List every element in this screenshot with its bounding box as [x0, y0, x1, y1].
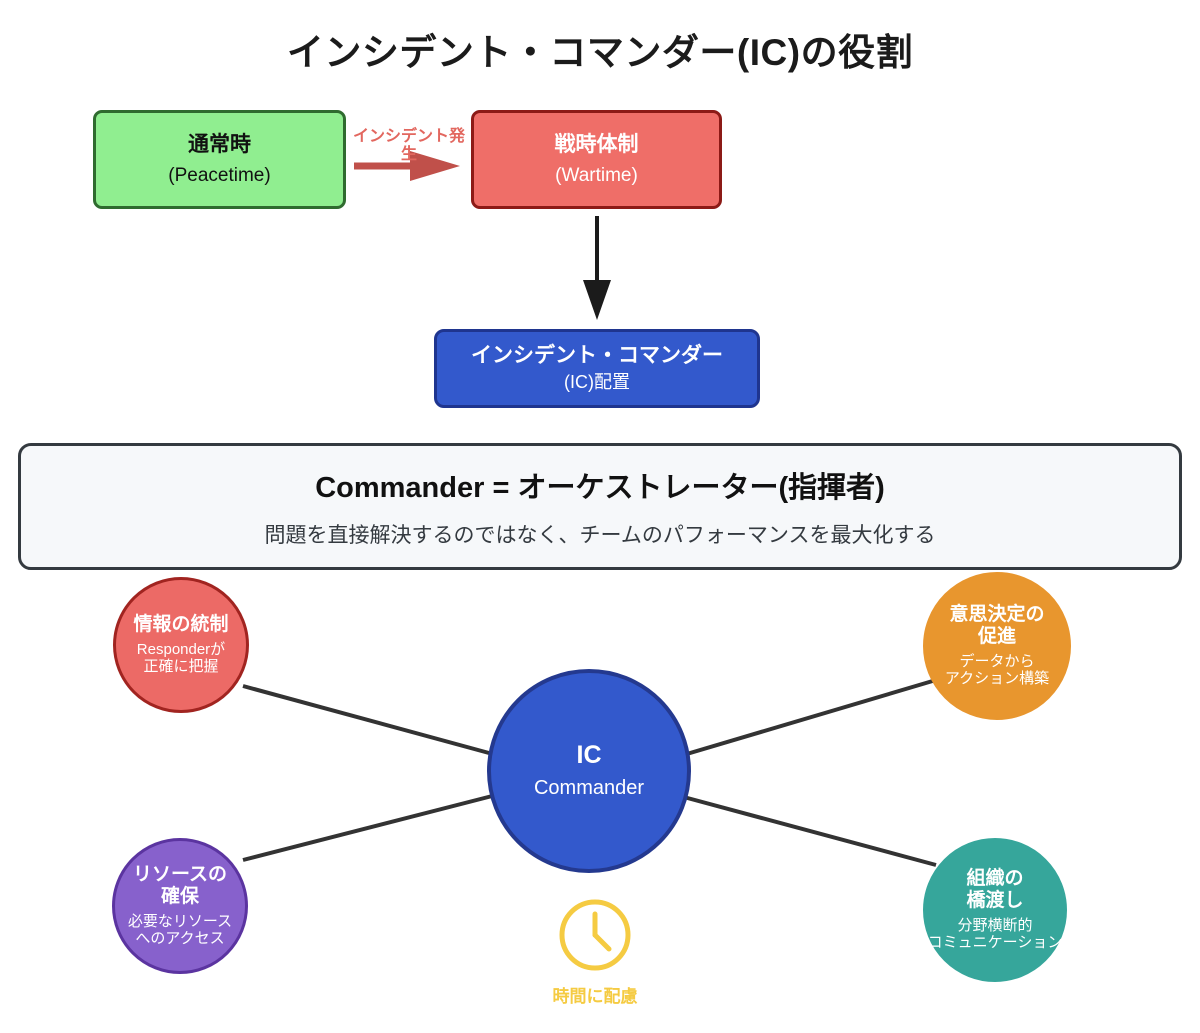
decision-title-1: 意思決定の — [949, 604, 1044, 626]
bridge-title-1: 組織の — [966, 868, 1023, 890]
link-decision-to-center — [680, 680, 936, 756]
link-resource-to-center — [243, 794, 500, 860]
resource-title-1: リソースの — [133, 864, 227, 886]
ic-box-title: インシデント・コマンダー — [471, 342, 723, 370]
info-subtitle-2: 正確に把握 — [143, 658, 218, 676]
peacetime-title: 通常時 — [188, 131, 251, 159]
bridge-subtitle-1: 分野横断的 — [957, 917, 1032, 935]
link-info-to-center — [243, 686, 500, 756]
bridge-title-2: 橋渡し — [966, 890, 1023, 912]
down-arrow-icon — [577, 214, 617, 324]
page-title: インシデント・コマンダー(IC)の役割 — [0, 22, 1200, 76]
ic-deployment-box: インシデント・コマンダー (IC)配置 — [434, 329, 760, 408]
banner-subtitle: 問題を直接解決するのではなく、チームのパフォーマンスを最大化する — [265, 519, 936, 549]
wartime-title: 戦時体制 — [555, 131, 639, 159]
wartime-subtitle: (Wartime) — [555, 163, 638, 188]
info-title: 情報の統制 — [133, 614, 228, 636]
clock-label: 時間に配慮 — [553, 982, 638, 1007]
bridge-subtitle-2: コミュニケーション — [928, 934, 1063, 952]
time-awareness-group: 時間に配慮 — [520, 896, 670, 1007]
ic-role-network: IC Commander 情報の統制 Responderが 正確に把握 意思決定… — [0, 560, 1200, 1033]
resource-subtitle-2: へのアクセス — [135, 930, 224, 948]
link-bridge-to-center — [680, 796, 936, 865]
node-org-bridging[interactable]: 組織の 橋渡し 分野横断的 コミュニケーション — [923, 838, 1067, 982]
info-subtitle-1: Responderが — [137, 641, 225, 659]
node-resource-securing[interactable]: リソースの 確保 必要なリソース へのアクセス — [112, 838, 248, 974]
state-box-peacetime: 通常時 (Peacetime) — [93, 110, 346, 209]
decision-subtitle-1: データから — [959, 653, 1034, 671]
commander-definition-banner: Commander = オーケストレーター(指揮者) 問題を直接解決するのではな… — [18, 443, 1182, 570]
node-decision-making[interactable]: 意思決定の 促進 データから アクション構築 — [923, 572, 1071, 720]
decision-title-2: 促進 — [978, 626, 1016, 648]
transition-label: インシデント発生 — [348, 128, 470, 165]
node-information-control[interactable]: 情報の統制 Responderが 正確に把握 — [113, 577, 249, 713]
ic-box-subtitle: (IC)配置 — [564, 371, 630, 395]
peacetime-subtitle: (Peacetime) — [168, 163, 270, 188]
decision-subtitle-2: アクション構築 — [945, 670, 1049, 688]
state-box-wartime: 戦時体制 (Wartime) — [471, 110, 722, 209]
resource-subtitle-1: 必要なリソース — [128, 913, 232, 931]
center-title: IC — [577, 741, 602, 771]
banner-title: Commander = オーケストレーター(指揮者) — [315, 464, 885, 506]
center-subtitle: Commander — [534, 777, 644, 801]
node-ic-center[interactable]: IC Commander — [487, 669, 691, 873]
clock-icon — [556, 896, 634, 974]
resource-title-2: 確保 — [161, 886, 199, 908]
